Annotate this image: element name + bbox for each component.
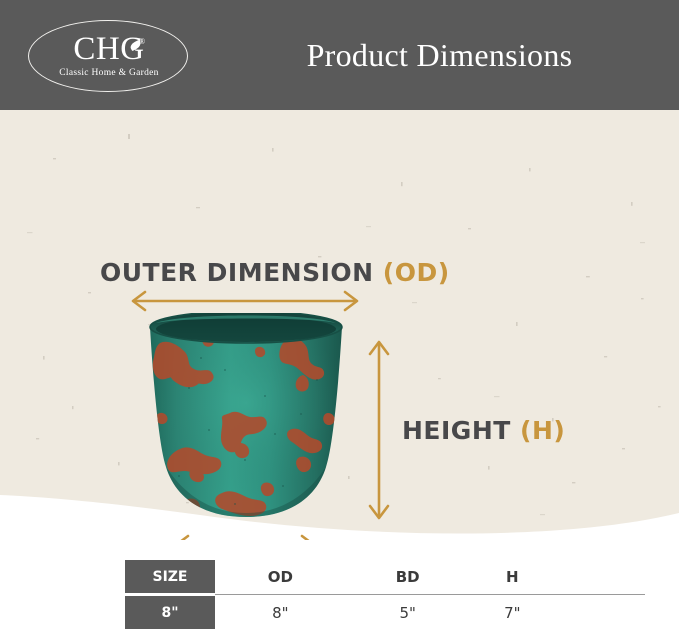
table-header-size: SIZE — [125, 560, 215, 593]
outer-dimension-label: OUTER DIMENSION (OD) — [100, 258, 450, 287]
table-header-bd: BD — [346, 560, 470, 593]
planter-pot-image — [128, 313, 364, 525]
registered-trademark-icon: ® — [139, 37, 145, 46]
logo-tagline: Classic Home & Garden — [29, 68, 189, 78]
height-arrow-icon — [366, 334, 392, 526]
table-header-rule — [215, 594, 645, 595]
header-bar: CHG ® Classic Home & Garden Product Dime… — [0, 0, 679, 110]
outer-dimension-arrow-icon — [125, 288, 365, 314]
page-title: Product Dimensions — [200, 0, 679, 110]
height-text: HEIGHT — [402, 416, 511, 445]
table-cell-bd: 5" — [346, 596, 470, 629]
table-header-h: H — [470, 560, 555, 593]
table-cell-od: 8" — [215, 596, 346, 629]
chg-logo: CHG ® Classic Home & Garden — [28, 20, 188, 92]
table-header-row: SIZE OD BD H — [125, 560, 555, 593]
dimensions-table-wrap: SIZE OD BD H 8" 8" 5" 7" — [0, 560, 679, 636]
outer-dimension-text: OUTER DIMENSION — [100, 258, 374, 287]
table-cell-size: 8" — [125, 596, 215, 629]
table-row: 8" 8" 5" 7" — [125, 596, 555, 629]
table-cell-h: 7" — [470, 596, 555, 629]
table-header-od: OD — [215, 560, 346, 593]
height-label: HEIGHT (H) — [402, 416, 565, 445]
outer-dimension-tag: (OD) — [383, 258, 450, 287]
logo-wordmark: CHG — [29, 33, 189, 66]
base-dimension-arrow-icon — [168, 532, 322, 540]
diagram-panel: OUTER DIMENSION (OD) — [0, 110, 679, 540]
height-tag: (H) — [520, 416, 565, 445]
product-dimensions-infographic: CHG ® Classic Home & Garden Product Dime… — [0, 0, 679, 636]
